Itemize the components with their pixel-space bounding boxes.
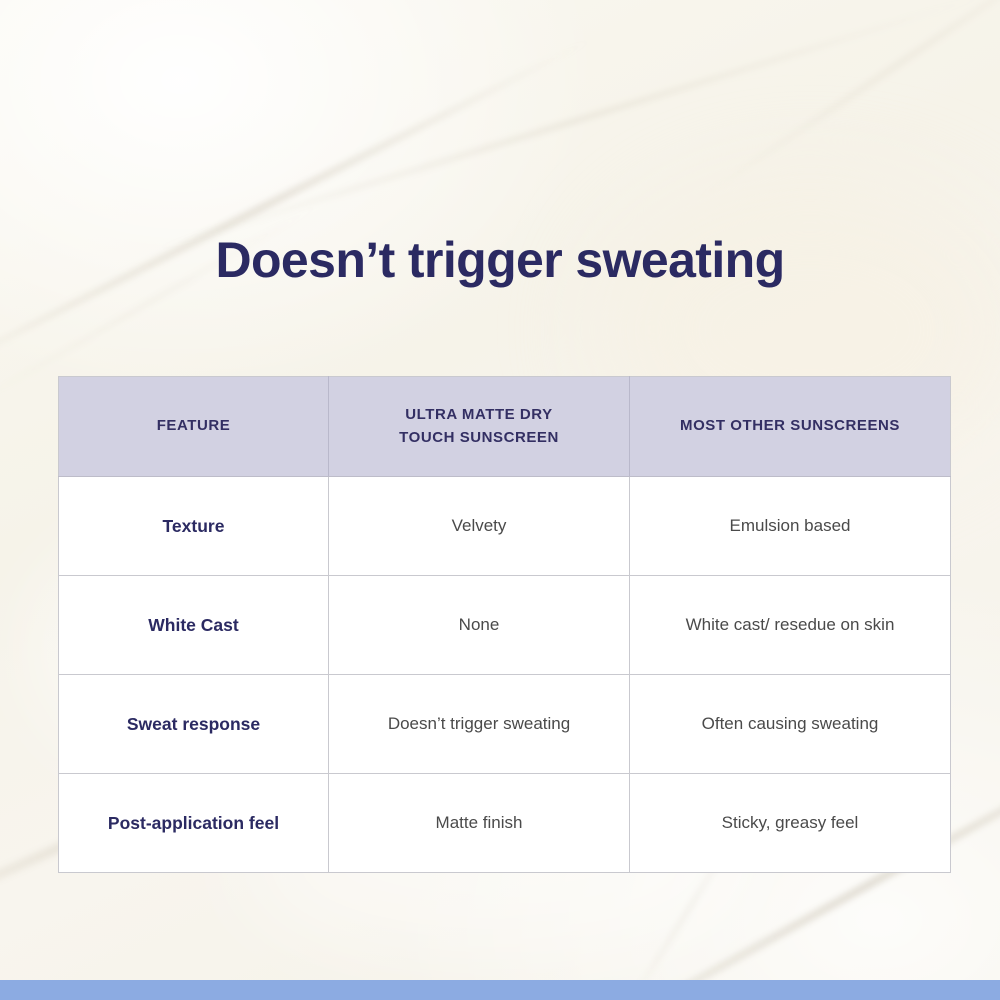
row-others-value: Often causing sweating [630, 675, 951, 774]
column-header-feature-line-1: FEATURE [157, 417, 231, 434]
row-others-value: Emulsion based [630, 477, 951, 576]
row-ours-value: None [329, 576, 630, 675]
comparison-infographic: Doesn’t trigger sweating FEATURE ULTRA M… [0, 0, 1000, 1000]
row-others-value: White cast/ resedue on skin [630, 576, 951, 675]
row-ours-value: Doesn’t trigger sweating [329, 675, 630, 774]
column-header-others: MOST OTHER SUNSCREENS [630, 377, 951, 477]
table-row: Post-application feel Matte finish Stick… [59, 774, 951, 873]
row-ours-value: Matte finish [329, 774, 630, 873]
table-header: FEATURE ULTRA MATTE DRY TOUCH SUNSCREEN … [59, 377, 951, 477]
row-feature-label: Sweat response [59, 675, 329, 774]
column-header-ours: ULTRA MATTE DRY TOUCH SUNSCREEN [329, 377, 630, 477]
row-feature-label: Texture [59, 477, 329, 576]
column-header-ours-line-1: ULTRA MATTE DRY [405, 406, 552, 423]
column-header-ours-line-2: TOUCH SUNSCREEN [399, 429, 559, 446]
bottom-accent-bar [0, 980, 1000, 1000]
column-header-feature: FEATURE [59, 377, 329, 477]
row-ours-value: Velvety [329, 477, 630, 576]
table-header-row: FEATURE ULTRA MATTE DRY TOUCH SUNSCREEN … [59, 377, 951, 477]
table-row: White Cast None White cast/ resedue on s… [59, 576, 951, 675]
table-row: Sweat response Doesn’t trigger sweating … [59, 675, 951, 774]
row-others-value: Sticky, greasy feel [630, 774, 951, 873]
row-feature-label: Post-application feel [59, 774, 329, 873]
page-title: Doesn’t trigger sweating [0, 232, 1000, 290]
table-body: Texture Velvety Emulsion based White Cas… [59, 477, 951, 873]
row-feature-label: White Cast [59, 576, 329, 675]
column-header-others-line-1: MOST OTHER SUNSCREENS [680, 417, 900, 434]
comparison-table: FEATURE ULTRA MATTE DRY TOUCH SUNSCREEN … [58, 376, 951, 873]
table-row: Texture Velvety Emulsion based [59, 477, 951, 576]
